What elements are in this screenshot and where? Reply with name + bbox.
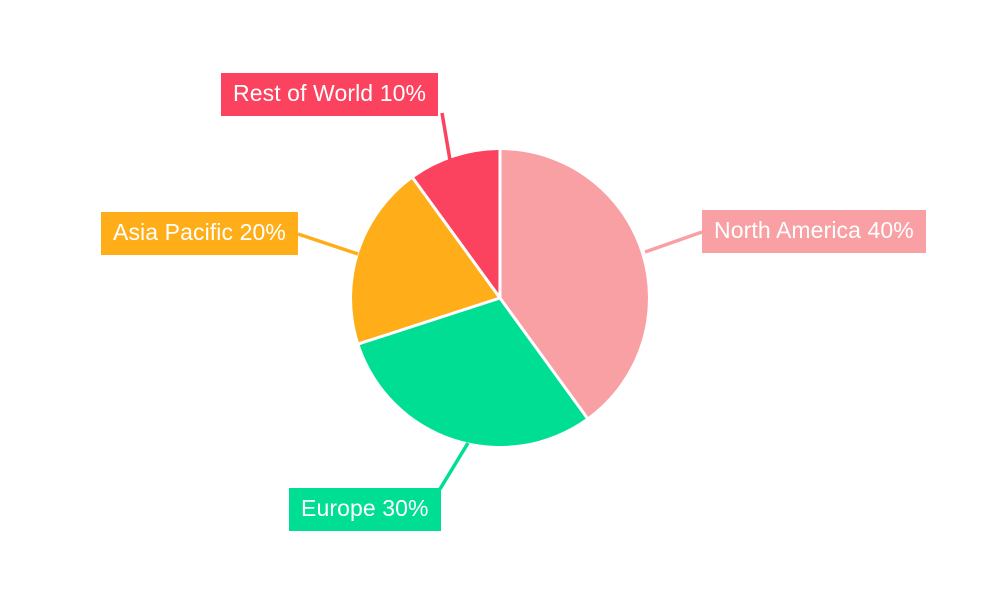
slice-label-text: North America 40% bbox=[714, 219, 914, 242]
slice-label-europe: Europe 30% bbox=[289, 488, 441, 531]
leader-line-asia-pacific bbox=[298, 234, 358, 254]
slice-label-rest-of-world: Rest of World 10% bbox=[221, 73, 438, 116]
pie-slices-group bbox=[352, 150, 648, 446]
pie-chart-svg bbox=[0, 0, 1000, 600]
leader-line-north-america bbox=[645, 232, 702, 252]
leader-line-europe bbox=[440, 443, 468, 489]
slice-label-asia-pacific: Asia Pacific 20% bbox=[101, 212, 298, 255]
slice-label-north-america: North America 40% bbox=[702, 210, 926, 253]
slice-label-text: Europe 30% bbox=[301, 497, 429, 520]
slice-label-text: Rest of World 10% bbox=[233, 82, 426, 105]
pie-chart-figure: North America 40% Europe 30% Asia Pacifi… bbox=[0, 0, 1000, 600]
slice-label-text: Asia Pacific 20% bbox=[113, 221, 286, 244]
